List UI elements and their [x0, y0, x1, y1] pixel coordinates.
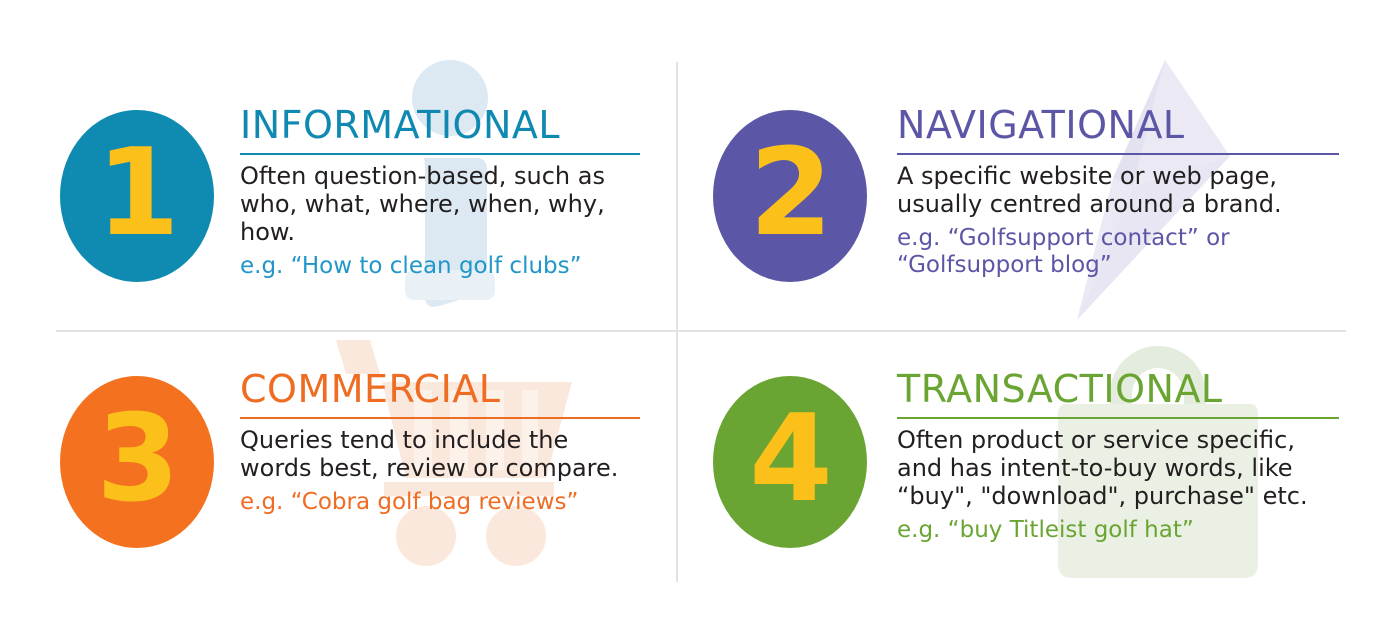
number-bubble-4: 4 [713, 376, 867, 548]
heading-rule [897, 153, 1339, 155]
heading-rule [240, 153, 640, 155]
quadrant-content: NAVIGATIONAL A specific website or web p… [897, 106, 1339, 279]
quadrant-content: TRANSACTIONAL Often product or service s… [897, 370, 1339, 544]
quadrant-commercial: 3 COMMERCIAL Queries tend to include the… [0, 314, 700, 628]
quadrant-heading: TRANSACTIONAL [897, 370, 1339, 408]
quadrant-content: INFORMATIONAL Often question-based, such… [240, 106, 640, 280]
number-label: 3 [96, 400, 178, 520]
quadrant-content: COMMERCIAL Queries tend to include the w… [240, 370, 640, 516]
number-bubble-2: 2 [713, 110, 867, 282]
number-bubble-3: 3 [60, 376, 214, 548]
search-intent-infographic: 1 INFORMATIONAL Often question-based, su… [0, 0, 1400, 628]
quadrant-example: e.g. “buy Titleist golf hat” [897, 510, 1339, 544]
quadrant-navigational: 2 NAVIGATIONAL A specific website or web… [700, 0, 1400, 314]
quadrant-heading: COMMERCIAL [240, 370, 640, 408]
quadrant-body: A specific website or web page, usually … [897, 162, 1339, 218]
quadrant-body: Queries tend to include the words best, … [240, 426, 640, 482]
number-bubble-1: 1 [60, 110, 214, 282]
quadrant-body: Often question-based, such as who, what,… [240, 162, 640, 246]
quadrant-body: Often product or service specific, and h… [897, 426, 1339, 510]
quadrant-example: e.g. “How to clean golf clubs” [240, 246, 640, 280]
quadrant-example: e.g. “Golfsupport contact” or “Golfsuppo… [897, 218, 1339, 279]
quadrant-transactional: 4 TRANSACTIONAL Often product or service… [700, 314, 1400, 628]
heading-rule [240, 417, 640, 419]
quadrant-heading: INFORMATIONAL [240, 106, 640, 144]
heading-rule [897, 417, 1339, 419]
quadrant-example: e.g. “Cobra golf bag reviews” [240, 482, 640, 516]
quadrant-informational: 1 INFORMATIONAL Often question-based, su… [0, 0, 700, 314]
number-label: 4 [749, 400, 831, 520]
number-label: 2 [749, 134, 831, 254]
number-label: 1 [96, 134, 178, 254]
quadrant-heading: NAVIGATIONAL [897, 106, 1339, 144]
